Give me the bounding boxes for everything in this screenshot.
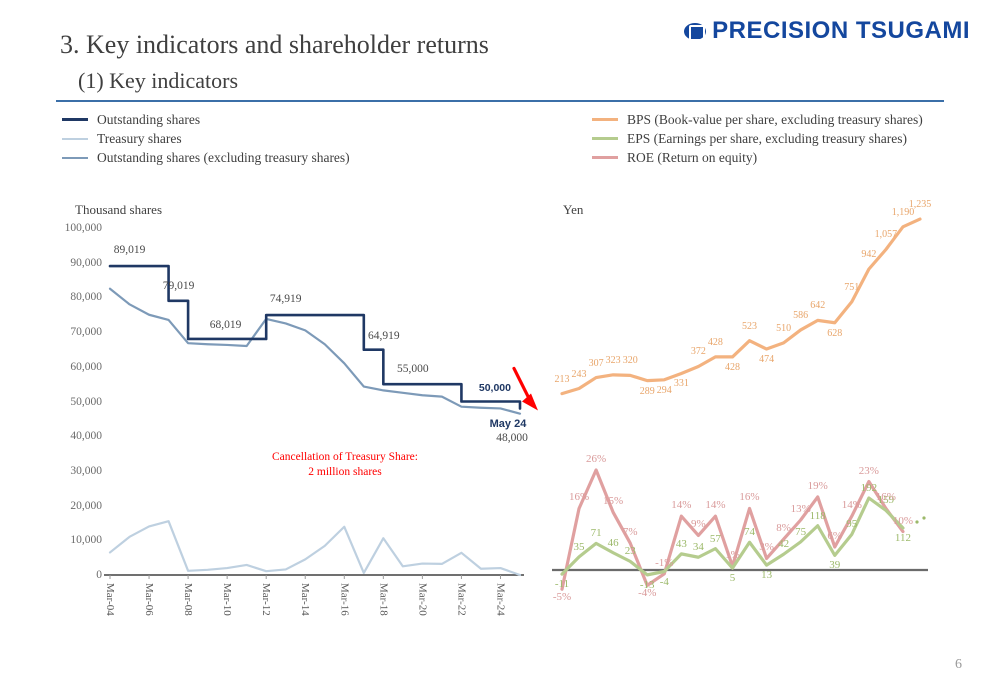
series-point-label: 68,019: [210, 319, 242, 331]
y-axis-tick: 40,000: [36, 430, 102, 442]
x-axis-tick: Mar-04: [104, 583, 116, 616]
bps-point-label: 642: [810, 300, 825, 311]
eps-point-label: 46: [608, 537, 619, 549]
series-point-label: 89,019: [114, 244, 146, 256]
series-point-label: 74,919: [270, 293, 302, 305]
bps-point-label: 372: [691, 346, 706, 357]
bps-eps-roe-chart: FY03FY05FY07FY09FY11FY13FY15FY17FY19FY21…: [500, 0, 1000, 640]
eps-point-label: 71: [591, 527, 602, 539]
roe-point-label: 26%: [586, 453, 606, 465]
roe-point-label: 3%: [759, 541, 774, 553]
roe-point-label: 23%: [859, 465, 879, 477]
x-axis-tick: Mar-14: [299, 583, 311, 616]
roe-point-label: -5%: [553, 591, 571, 603]
series-point-label: 64,919: [368, 330, 400, 342]
cancellation-note-line1: Cancellation of Treasury Share:: [272, 450, 418, 465]
bps-point-label: 942: [861, 249, 876, 260]
y-axis-tick: 100,000: [36, 222, 102, 234]
bps-point-label: 294: [657, 385, 672, 396]
eps-point-label: -4: [660, 576, 669, 588]
x-axis-tick: Mar-22: [455, 583, 467, 616]
bps-point-label: 289: [640, 386, 655, 397]
bps-point-label: 628: [827, 328, 842, 339]
eps-point-label: 118: [810, 510, 826, 522]
x-axis-tick: Mar-08: [182, 583, 194, 616]
bps-point-label: 331: [674, 378, 689, 389]
roe-point-label: 16%: [569, 491, 589, 503]
roe-point-label: 19%: [808, 480, 828, 492]
eps-point-label: 23: [625, 545, 636, 557]
y-axis-tick: 30,000: [36, 465, 102, 477]
roe-point-label: 14%: [705, 499, 725, 511]
roe-point-label: 14%: [842, 499, 862, 511]
roe-point-label: 15%: [603, 495, 623, 507]
y-axis-tick: 70,000: [36, 326, 102, 338]
eps-point-label: 95: [846, 518, 857, 530]
eps-point-label: 39: [829, 559, 840, 571]
roe-point-label: 6%: [827, 530, 842, 542]
y-axis-tick: 10,000: [36, 534, 102, 546]
roe-point-label: -4%: [638, 587, 656, 599]
bps-point-label: 1,057: [875, 229, 898, 240]
roe-point-label: 14%: [671, 499, 691, 511]
eps-point-label: 43: [676, 538, 687, 550]
series-point-label: 55,000: [397, 363, 429, 375]
shares-chart: 010,00020,00030,00040,00050,00060,00070,…: [0, 0, 540, 640]
roe-point-label: 7%: [623, 526, 638, 538]
bps-point-label: 474: [759, 354, 774, 365]
roe-point-label: 10%: [893, 515, 913, 527]
bps-point-label: 428: [725, 362, 740, 373]
series-point-label: 79,019: [163, 280, 195, 292]
eps-point-label: 5: [730, 572, 736, 584]
page-number: 6: [955, 657, 962, 673]
x-axis-tick: Mar-06: [143, 583, 155, 616]
bps-point-label: 523: [742, 321, 757, 332]
eps-point-label: 57: [710, 533, 721, 545]
slide: PRECISION TSUGAMI 3. Key indicators and …: [0, 0, 1000, 685]
eps-point-label: 13: [761, 569, 772, 581]
eps-point-label: 192: [861, 482, 878, 494]
x-axis-tick: Mar-16: [338, 583, 350, 616]
bps-point-label: 307: [589, 358, 604, 369]
roe-point-label: 16%: [876, 491, 896, 503]
roe-point-label: 13%: [791, 503, 811, 515]
roe-point-label: 1%: [725, 549, 740, 561]
y-axis-tick: 0: [36, 569, 102, 581]
eps-point-label: 112: [895, 532, 911, 544]
x-axis-tick: Mar-18: [377, 583, 389, 616]
y-axis-tick: 50,000: [36, 396, 102, 408]
eps-point-label: -11: [555, 578, 569, 590]
eps-point-label: 42: [778, 538, 789, 550]
y-axis-tick: 80,000: [36, 291, 102, 303]
bps-point-label: 1,235: [909, 199, 932, 210]
bps-point-label: 510: [776, 323, 791, 334]
bps-point-label: 320: [623, 355, 638, 366]
roe-point-label: 8%: [776, 522, 791, 534]
bps-point-label: 586: [793, 310, 808, 321]
x-axis-tick: Mar-10: [221, 583, 233, 616]
bps-point-label: 213: [555, 374, 570, 385]
bps-point-label: 243: [572, 369, 587, 380]
roe-point-label: 9%: [691, 518, 706, 530]
roe-point-label: 16%: [739, 491, 759, 503]
eps-point-label: 35: [574, 541, 585, 553]
roe-point-label: -1%: [655, 557, 673, 569]
bps-point-label: 323: [606, 355, 621, 366]
bps-point-label: 428: [708, 337, 723, 348]
cancellation-note-line2: 2 million shares: [308, 465, 381, 480]
eps-point-label: 74: [744, 526, 755, 538]
y-axis-tick: 90,000: [36, 257, 102, 269]
y-axis-tick: 60,000: [36, 361, 102, 373]
bps-point-label: 751: [844, 282, 859, 293]
x-axis-tick: Mar-12: [260, 583, 272, 616]
eps-point-label: 34: [693, 541, 704, 553]
x-axis-tick: Mar-20: [416, 583, 428, 616]
eps-point-label: 75: [795, 526, 806, 538]
y-axis-tick: 20,000: [36, 500, 102, 512]
